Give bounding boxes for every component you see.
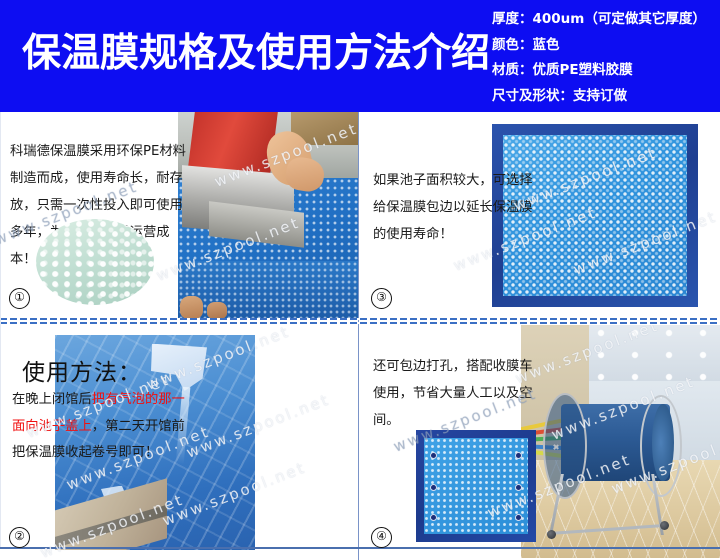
panel-2-text-before: 在晚上闭馆后 bbox=[12, 392, 92, 407]
photo-inset-pe-resin-pellets bbox=[36, 219, 154, 305]
product-spec-infographic: 保温膜规格及使用方法介绍 厚度：400um（可定做其它厚度） 颜色：蓝色 材质：… bbox=[0, 0, 720, 560]
panel-2-number: ② bbox=[9, 527, 30, 548]
panel-3-description: 如果池子面积较大，可选择给保温膜包边以延长保温膜的使用寿命！ bbox=[373, 167, 533, 248]
page-title: 保温膜规格及使用方法介绍 bbox=[22, 26, 482, 82]
spec-thickness: 厚度：400um（可定做其它厚度） bbox=[492, 7, 720, 33]
panel-1: 科瑞德保温膜采用环保PE材料制造而成，使用寿命长，耐存放，只需一次性投入即可使用… bbox=[0, 112, 358, 319]
panel-2-heading: 使用方法： bbox=[22, 353, 142, 387]
panel-1-number: ① bbox=[9, 288, 30, 309]
panel-4-description: 还可包边打孔，搭配收膜车使用，节省大量人工以及空间。 bbox=[373, 353, 538, 434]
specification-list: 厚度：400um（可定做其它厚度） 颜色：蓝色 材质：优质PE塑料胶膜 尺寸及形… bbox=[492, 7, 720, 109]
left-frame-rule bbox=[0, 112, 1, 549]
panel-3-number: ③ bbox=[371, 288, 392, 309]
header-banner: 保温膜规格及使用方法介绍 厚度：400um（可定做其它厚度） 颜色：蓝色 材质：… bbox=[0, 0, 720, 112]
photo-inset-grommeted-blanket-sample bbox=[416, 430, 536, 542]
spec-color: 颜色：蓝色 bbox=[492, 33, 720, 59]
panel-3: 如果池子面积较大，可选择给保温膜包边以延长保温膜的使用寿命！ ③ www.szp… bbox=[361, 112, 720, 319]
vertical-divider bbox=[358, 112, 359, 560]
panel-4: 还可包边打孔，搭配收膜车使用，节省大量人工以及空间。 ④ www.szpool.… bbox=[361, 325, 720, 558]
spec-material: 材质：优质PE塑料胶膜 bbox=[492, 58, 720, 84]
panel-2-description: 在晚上闭馆后把有气泡的那一面向池子盖上，第二天开馆前把保温膜收起卷号即可！ bbox=[12, 387, 192, 467]
panel-4-number: ④ bbox=[371, 527, 392, 548]
panel-2: 使用方法： 在晚上闭馆后把有气泡的那一面向池子盖上，第二天开馆前把保温膜收起卷号… bbox=[0, 325, 358, 558]
photo-blanket-reel-cart bbox=[521, 325, 720, 558]
photo-bubble-film-production-machine bbox=[178, 112, 358, 319]
horizontal-divider bbox=[0, 317, 720, 325]
spec-size-shape: 尺寸及形状：支持订做 bbox=[492, 84, 720, 110]
bottom-rule bbox=[0, 547, 720, 549]
panel-grid: 科瑞德保温膜采用环保PE材料制造而成，使用寿命长，耐存放，只需一次性投入即可使用… bbox=[0, 112, 720, 560]
